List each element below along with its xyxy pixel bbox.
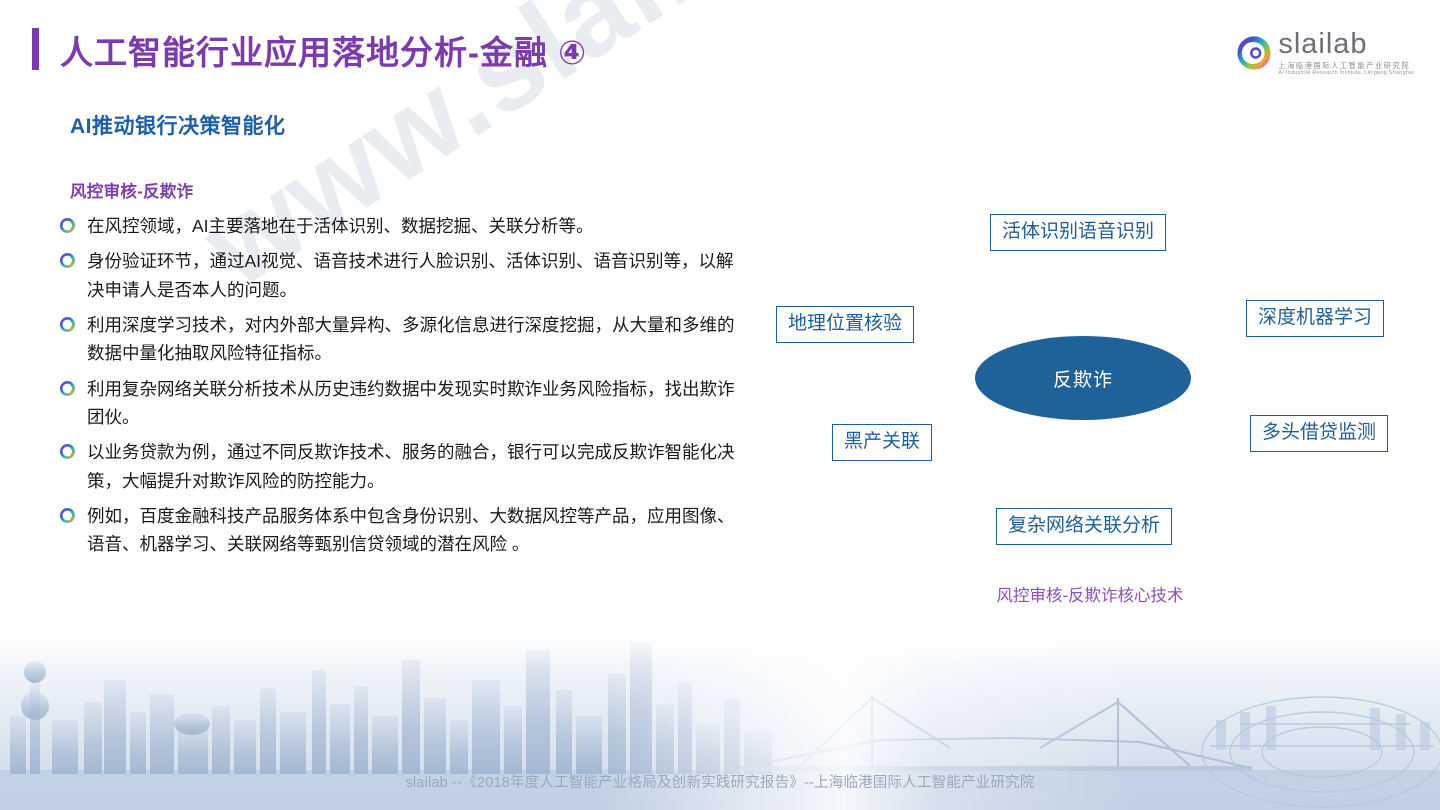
- list-item: 例如，百度金融科技产品服务体系中包含身份识别、大数据风控等产品，应用图像、语音、…: [60, 502, 750, 559]
- bullet-logo-icon: [60, 218, 75, 233]
- bullet-text: 身份验证环节，通过AI视觉、语音技术进行人脸识别、活体识别、语音识别等，以解决申…: [87, 247, 740, 304]
- title-accent-bar: [32, 28, 39, 70]
- diagram-center-node: 反欺诈: [975, 336, 1191, 420]
- bullet-text: 例如，百度金融科技产品服务体系中包含身份识别、大数据风控等产品，应用图像、语音、…: [87, 502, 740, 559]
- logo-wordmark: slailab: [1278, 30, 1414, 59]
- section-heading: AI推动银行决策智能化: [70, 110, 750, 140]
- list-item: 利用深度学习技术，对内外部大量异构、多源化信息进行深度挖掘，从大量和多维的数据中…: [60, 311, 750, 368]
- page-title: 人工智能行业应用落地分析-金融 ④: [60, 26, 587, 74]
- list-item: 利用复杂网络关联分析技术从历史违约数据中发现实时欺诈业务风险指标，找出欺诈团伙。: [60, 375, 750, 432]
- left-content-column: AI推动银行决策智能化 风控审核-反欺诈 在风控领域，AI主要落地在于活体识别、…: [0, 110, 750, 566]
- anti-fraud-diagram: 反欺诈 活体识别语音识别 地理位置核验 深度机器学习 黑产关联 多头借贷监测 复…: [760, 120, 1440, 650]
- bullet-text: 利用复杂网络关联分析技术从历史违约数据中发现实时欺诈业务风险指标，找出欺诈团伙。: [87, 375, 740, 432]
- bullet-logo-icon: [60, 508, 75, 523]
- brand-logo: slailab 上海临港国际人工智能产业研究院 AI Industrial Re…: [1237, 30, 1414, 77]
- list-item: 在风控领域，AI主要落地在于活体识别、数据挖掘、关联分析等。: [60, 212, 750, 240]
- logo-english-name: AI Industrial Research Institute, Lin'ga…: [1278, 71, 1414, 77]
- slailab-logo-mark-icon: [1237, 36, 1271, 70]
- bullet-logo-icon: [60, 444, 75, 459]
- bullet-logo-icon: [60, 317, 75, 332]
- diagram-node-geo-location-verify: 地理位置核验: [776, 306, 914, 343]
- bullet-text: 在风控领域，AI主要落地在于活体识别、数据挖掘、关联分析等。: [87, 212, 594, 240]
- bullet-text: 以业务贷款为例，通过不同反欺诈技术、服务的融合，银行可以完成反欺诈智能化决策，大…: [87, 438, 740, 495]
- bullet-text: 利用深度学习技术，对内外部大量异构、多源化信息进行深度挖掘，从大量和多维的数据中…: [87, 311, 740, 368]
- diagram-node-complex-network-analysis: 复杂网络关联分析: [996, 508, 1172, 545]
- diagram-node-black-industry-link: 黑产关联: [832, 424, 932, 461]
- diagram-node-deep-machine-learning: 深度机器学习: [1246, 300, 1384, 337]
- bullet-list: 在风控领域，AI主要落地在于活体识别、数据挖掘、关联分析等。 身份验证环节，通过…: [0, 212, 750, 559]
- diagram-node-live-voice-recognition: 活体识别语音识别: [990, 214, 1166, 251]
- diagram-center-label: 反欺诈: [1053, 365, 1113, 392]
- sub-heading: 风控审核-反欺诈: [70, 178, 750, 202]
- bullet-logo-icon: [60, 381, 75, 396]
- bullet-logo-icon: [60, 253, 75, 268]
- slide-footer: slailab --《2018年度人工智能产业格局及创新实践研究报告》--上海临…: [0, 771, 1440, 792]
- logo-chinese-name: 上海临港国际人工智能产业研究院: [1278, 62, 1414, 69]
- list-item: 身份验证环节，通过AI视觉、语音技术进行人脸识别、活体识别、语音识别等，以解决申…: [60, 247, 750, 304]
- diagram-node-multi-loan-monitor: 多头借贷监测: [1250, 415, 1388, 452]
- slide-header: 人工智能行业应用落地分析-金融 ④: [0, 0, 1440, 100]
- list-item: 以业务贷款为例，通过不同反欺诈技术、服务的融合，银行可以完成反欺诈智能化决策，大…: [60, 438, 750, 495]
- slide-root: www.slailab.cn 人工智能行业应用落地分析-金融 ④ s: [0, 0, 1440, 810]
- diagram-caption: 风控审核-反欺诈核心技术: [975, 582, 1205, 606]
